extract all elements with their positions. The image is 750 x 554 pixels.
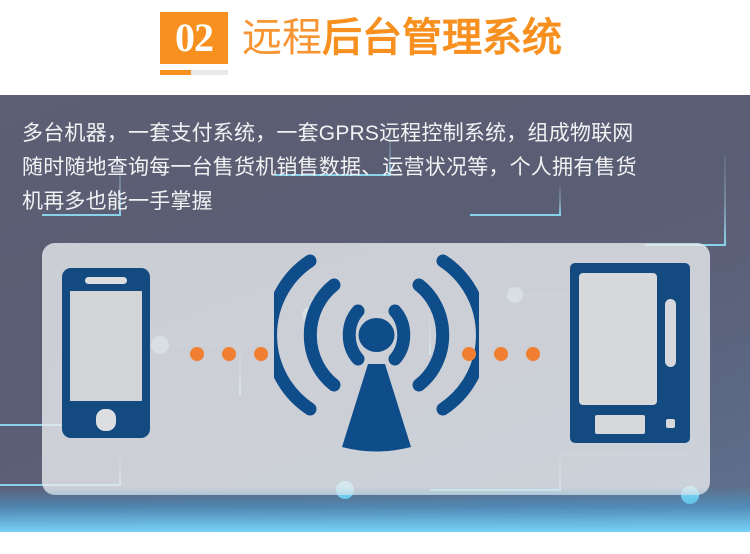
- section-number-badge: 02: [160, 12, 228, 64]
- page-title-light: 远程: [242, 16, 322, 60]
- body-paragraph: 多台机器，一套支付系统，一套GPRS远程控制系统，组成物联网 随时随地查询每一台…: [22, 117, 712, 219]
- signal-dot: [190, 347, 204, 361]
- title-underline: [160, 70, 228, 75]
- vending-pickup-tray-icon: [595, 415, 645, 434]
- phone-screen: [70, 291, 142, 401]
- vending-machine-icon: [570, 263, 690, 443]
- bottom-white-margin: [0, 532, 750, 554]
- paragraph-line-1: 多台机器，一套支付系统，一套GPRS远程控制系统，组成物联网: [22, 117, 712, 151]
- paragraph-line-3: 机再多也能一手掌握: [22, 185, 712, 219]
- page-title-bold: 后台管理系统: [322, 16, 562, 60]
- section-title: 02 远程后台管理系统: [160, 12, 562, 64]
- title-underline-fill: [160, 70, 191, 75]
- paragraph-line-2: 随时随地查询每一台售货机销售数据、运营状况等，个人拥有售货: [22, 151, 712, 185]
- signal-dot: [494, 347, 508, 361]
- signal-dot: [254, 347, 268, 361]
- signal-dot: [222, 347, 236, 361]
- signal-tower-icon: [274, 251, 479, 461]
- page-title: 远程后台管理系统: [242, 18, 562, 58]
- phone-speaker-icon: [85, 277, 127, 284]
- vending-display-window: [579, 273, 657, 405]
- promo-page: 02 远程后台管理系统: [0, 0, 750, 554]
- smartphone-icon: [62, 268, 150, 438]
- phone-home-button-icon: [96, 409, 116, 431]
- signal-dots-left: [190, 347, 268, 361]
- vending-coin-slot-icon: [666, 419, 675, 428]
- content-stage: 多台机器，一套支付系统，一套GPRS远程控制系统，组成物联网 随时随地查询每一台…: [0, 95, 750, 532]
- page-header: 02 远程后台管理系统: [0, 0, 750, 95]
- signal-dot: [462, 347, 476, 361]
- signal-dot: [526, 347, 540, 361]
- vending-card-slot-icon: [665, 299, 676, 367]
- signal-dots-right: [462, 347, 540, 361]
- illustration-panel: [42, 243, 710, 495]
- bottom-glow-strip: [0, 487, 750, 532]
